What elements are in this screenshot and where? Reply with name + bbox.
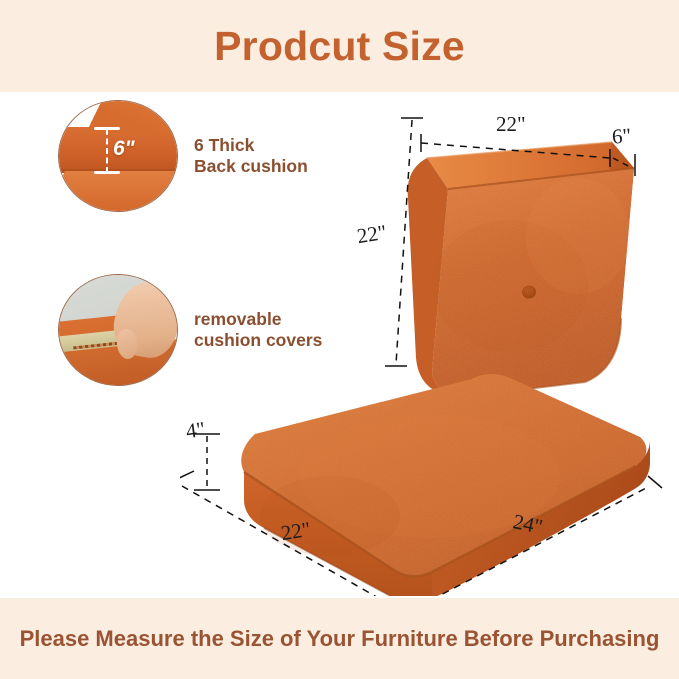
- back-cushion-shape: [180, 96, 634, 396]
- dimension-label-seat-width: 22": [279, 517, 312, 546]
- back-cushion-thickness-photo-icon: 6": [58, 100, 178, 212]
- footer-text: Please Measure the Size of Your Furnitur…: [20, 624, 660, 653]
- dimension-label-seat-thickness: 4": [184, 417, 206, 444]
- seat-cushion-shape: [241, 374, 650, 596]
- footer-banner: Please Measure the Size of Your Furnitur…: [0, 598, 679, 679]
- infographic-page: Prodcut Size 6" 6 Thick Back cushion: [0, 0, 679, 679]
- page-title: Prodcut Size: [214, 26, 465, 67]
- product-illustration: [180, 96, 679, 596]
- dimension-label-back-height: 22": [355, 220, 388, 249]
- dimension-label-back-width: 22": [496, 112, 526, 137]
- removable-cover-hand-photo-icon: [58, 274, 178, 386]
- dimension-label-back-depth: 6": [611, 123, 632, 149]
- inset-measure-label: 6": [113, 137, 135, 161]
- header-banner: Prodcut Size: [0, 0, 679, 92]
